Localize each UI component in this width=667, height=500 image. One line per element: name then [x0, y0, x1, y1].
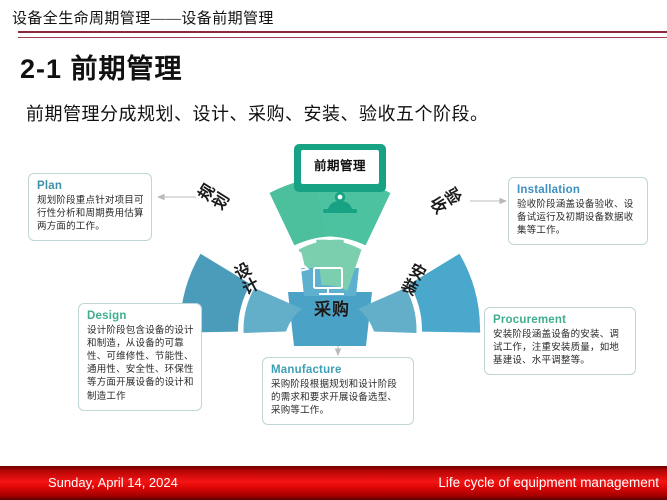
callout-plan[interactable]: Plan 规划阶段重点针对项目可行性分析和周期费用估算两方面的工作。 — [28, 173, 152, 241]
footer-caption: Life cycle of equipment management — [438, 475, 659, 490]
callout-plan-body: 规划阶段重点针对项目可行性分析和周期费用估算两方面的工作。 — [37, 194, 144, 233]
smartphone-icon — [252, 249, 278, 277]
callout-installation-body: 验收阶段涵盖设备验收、设备试运行及初期设备数据收集等工作。 — [517, 198, 640, 237]
callout-procurement[interactable]: Procurement 安装阶段涵盖设备的安装、调试工作，注重安装质量，如地基建… — [484, 307, 636, 375]
callout-design-title: Design — [87, 310, 194, 322]
callout-procurement-body: 安装阶段涵盖设备的安装、调试工作，注重安装质量，如地基建设、水平调整等。 — [493, 328, 628, 367]
callout-manufacture-body: 采购阶段根据规划和设计阶段的需求和要求开展设备选型、采购等工作。 — [271, 378, 406, 417]
wheel-label-purchase: 采购 — [314, 295, 350, 320]
callout-plan-title: Plan — [37, 180, 144, 192]
callout-procurement-title: Procurement — [493, 314, 628, 326]
header-title: 设备全生命周期管理——设备前期管理 — [12, 7, 274, 28]
callout-manufacture[interactable]: Manufacture 采购阶段根据规划和设计阶段的需求和要求开展设备选型、采购… — [262, 357, 414, 425]
lifecycle-diagram: 规划 设计 采购 安装 验收 前期管理 Plan 规划阶段重点针对项目可行性分析… — [0, 135, 667, 445]
callout-design-body: 设计阶段包含设备的设计和制造，从设备的可靠性、可维修性、节能性、通用性、安全性、… — [87, 324, 194, 403]
slide-header: 设备全生命周期管理——设备前期管理 — [0, 0, 667, 38]
feature-phone-icon — [361, 252, 382, 282]
callout-manufacture-title: Manufacture — [271, 364, 406, 376]
page-subtitle: 前期管理分成规划、设计、采购、安装、验收五个阶段。 — [26, 100, 489, 126]
callout-installation[interactable]: Installation 验收阶段涵盖设备验收、设备试运行及初期设备数据收集等工… — [508, 177, 648, 245]
footer-date: Sunday, April 14, 2024 — [48, 475, 178, 490]
page-title: 2-1 前期管理 — [20, 47, 183, 86]
monitor-icon — [292, 143, 388, 213]
center-monitor[interactable]: 前期管理 — [292, 143, 388, 213]
header-divider-rule — [18, 31, 667, 38]
callout-installation-title: Installation — [517, 184, 640, 196]
slide-footer: Sunday, April 14, 2024 Life cycle of equ… — [0, 466, 667, 500]
callout-design[interactable]: Design 设计阶段包含设备的设计和制造，从设备的可靠性、可维修性、节能性、通… — [78, 303, 202, 411]
center-monitor-label: 前期管理 — [292, 155, 388, 174]
